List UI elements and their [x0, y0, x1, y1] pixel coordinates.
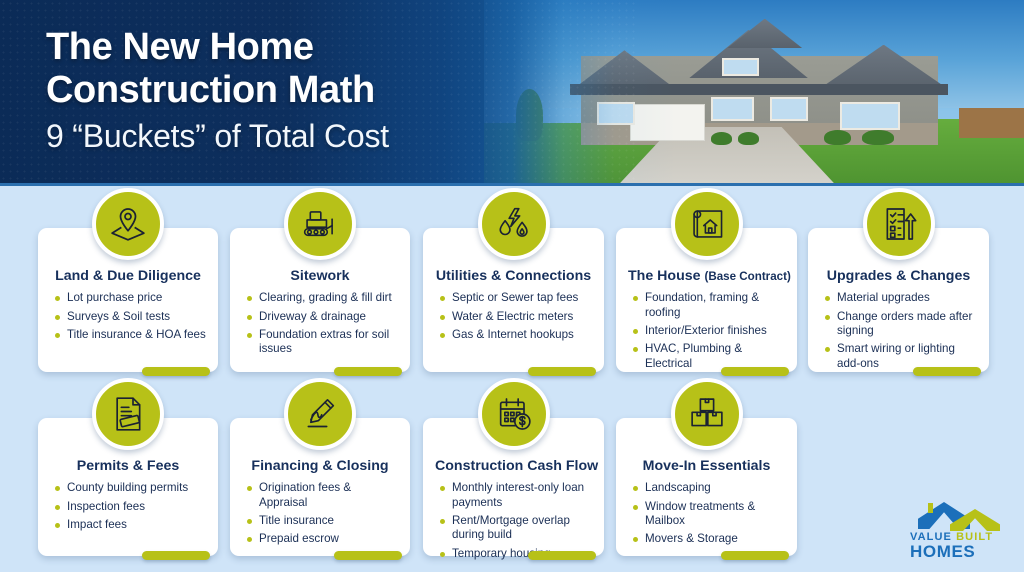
logo-word-homes: HOMES [910, 543, 1006, 561]
buckets-grid: Land & Due Diligence Lot purchase price … [0, 186, 1024, 572]
list-item: Lot purchase price [53, 291, 206, 305]
list-item: Change orders made after signing [823, 310, 977, 339]
checklist-upgrade-icon [863, 188, 935, 260]
list-item: Surveys & Soil tests [53, 310, 206, 324]
bucket-card-land-due-diligence[interactable]: Land & Due Diligence Lot purchase price … [38, 228, 218, 372]
bucket-card-move-in-essentials[interactable]: Move-In Essentials Landscaping Window tr… [616, 418, 797, 556]
card-title-main: Construction Cash Flow [435, 458, 598, 474]
card-title-main: Financing & Closing [251, 458, 388, 474]
list-item: Clearing, grading & fill dirt [245, 291, 398, 305]
page-title: The New Home Construction Math 9 “Bucket… [46, 26, 389, 155]
list-item: Landscaping [631, 481, 785, 495]
card-bullets: County building permits Inspection fees … [50, 481, 206, 532]
card-title-main: Move-In Essentials [643, 458, 771, 474]
list-item: Foundation, framing & roofing [631, 291, 785, 320]
card-title-main: Sitework [290, 268, 349, 284]
value-built-homes-logo: VALUE BUILT HOMES [910, 500, 1006, 562]
list-item: Origination fees & Appraisal [245, 481, 398, 510]
card-accent-bar [334, 367, 402, 376]
water-drop-bolt-flame-icon [478, 188, 550, 260]
card-title-main: Permits & Fees [77, 458, 180, 474]
list-item: Movers & Storage [631, 532, 785, 546]
list-item: Title insurance [245, 514, 398, 528]
blueprint-house-icon [671, 188, 743, 260]
card-title: Construction Cash Flow [435, 458, 592, 474]
card-title: The House (Base Contract) [628, 268, 785, 284]
header-divider [0, 183, 1024, 186]
bucket-card-sitework[interactable]: Sitework Clearing, grading & fill dirt D… [230, 228, 410, 372]
card-accent-bar [142, 551, 210, 560]
card-bullets: Clearing, grading & fill dirt Driveway &… [242, 291, 398, 357]
title-line-2: Construction Math [46, 69, 389, 112]
moving-boxes-icon [671, 378, 743, 450]
page-subtitle: 9 “Buckets” of Total Cost [46, 117, 389, 155]
card-accent-bar [528, 551, 596, 560]
bucket-card-construction-cash-flow[interactable]: Construction Cash Flow Monthly interest-… [423, 418, 604, 556]
card-title: Upgrades & Changes [820, 268, 977, 284]
bucket-card-permits-fees[interactable]: Permits & Fees County building permits I… [38, 418, 218, 556]
card-title-main: Utilities & Connections [436, 268, 591, 284]
logo-roof-mark [910, 500, 1006, 530]
list-item: Window treatments & Mailbox [631, 500, 785, 529]
card-title: Utilities & Connections [435, 268, 592, 284]
approved-document-icon [92, 378, 164, 450]
list-item: County building permits [53, 481, 206, 495]
list-item: Gas & Internet hookups [438, 328, 592, 342]
card-accent-bar [721, 551, 789, 560]
list-item: Interior/Exterior finishes [631, 324, 785, 338]
list-item: Material upgrades [823, 291, 977, 305]
list-item: Driveway & drainage [245, 310, 398, 324]
calendar-dollar-icon [478, 378, 550, 450]
card-accent-bar [913, 367, 981, 376]
card-bullets: Foundation, framing & roofing Interior/E… [628, 291, 785, 371]
title-line-1: The New Home [46, 26, 389, 69]
list-item: Impact fees [53, 518, 206, 532]
card-title: Land & Due Diligence [50, 268, 206, 284]
card-accent-bar [334, 551, 402, 560]
card-title-main: Upgrades & Changes [827, 268, 970, 284]
card-bullets: Septic or Sewer tap fees Water & Electri… [435, 291, 592, 342]
list-item: Monthly interest-only loan payments [438, 481, 592, 510]
bucket-card-financing-closing[interactable]: Financing & Closing Origination fees & A… [230, 418, 410, 556]
bulldozer-icon [284, 188, 356, 260]
list-item: Prepaid escrow [245, 532, 398, 546]
card-bullets: Monthly interest-only loan payments Rent… [435, 481, 592, 561]
card-bullets: Lot purchase price Surveys & Soil tests … [50, 291, 206, 342]
card-title: Financing & Closing [242, 458, 398, 474]
list-item: Title insurance & HOA fees [53, 328, 206, 342]
card-title-main: The House [628, 268, 701, 284]
card-accent-bar [721, 367, 789, 376]
list-item: Septic or Sewer tap fees [438, 291, 592, 305]
list-item: Rent/Mortgage overlap during build [438, 514, 592, 543]
card-title-main: Land & Due Diligence [55, 268, 201, 284]
card-bullets: Material upgrades Change orders made aft… [820, 291, 977, 371]
card-title: Permits & Fees [50, 458, 206, 474]
card-title: Sitework [242, 268, 398, 284]
bucket-card-the-house[interactable]: The House (Base Contract) Foundation, fr… [616, 228, 797, 372]
location-pin-icon [92, 188, 164, 260]
bucket-card-upgrades-changes[interactable]: Upgrades & Changes Material upgrades Cha… [808, 228, 989, 372]
logo-chimney [928, 503, 933, 513]
card-title: Move-In Essentials [628, 458, 785, 474]
card-bullets: Origination fees & Appraisal Title insur… [242, 481, 398, 547]
card-bullets: Landscaping Window treatments & Mailbox … [628, 481, 785, 547]
list-item: Inspection fees [53, 500, 206, 514]
list-item: Foundation extras for soil issues [245, 328, 398, 357]
signature-pen-icon [284, 378, 356, 450]
card-accent-bar [528, 367, 596, 376]
list-item: Water & Electric meters [438, 310, 592, 324]
bucket-card-utilities-connections[interactable]: Utilities & Connections Septic or Sewer … [423, 228, 604, 372]
card-accent-bar [142, 367, 210, 376]
header-banner: The New Home Construction Math 9 “Bucket… [0, 0, 1024, 186]
card-title-sub: (Base Contract) [704, 270, 790, 283]
